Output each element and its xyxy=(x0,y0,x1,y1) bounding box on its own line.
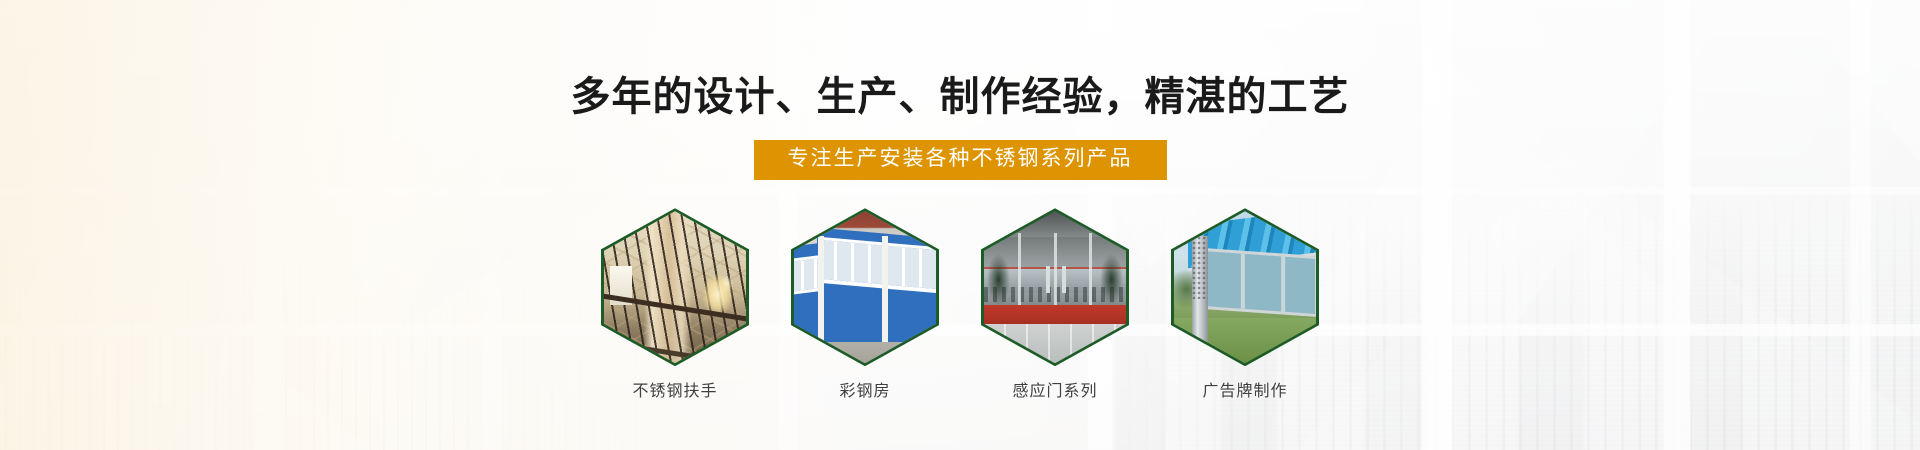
photo-railing-top-bar xyxy=(604,293,746,323)
product-card-label: 不锈钢扶手 xyxy=(632,377,717,401)
product-card-label: 广告牌制作 xyxy=(1202,377,1287,401)
product-card-billboard[interactable]: 广告牌制作 xyxy=(1160,208,1330,401)
hexagon-photo-sensordoor xyxy=(984,211,1126,363)
product-card-handrail[interactable]: 不锈钢扶手 xyxy=(590,208,760,401)
hexagon-frame-guardhouse[interactable] xyxy=(791,208,939,366)
photo-red-carpet xyxy=(984,305,1126,325)
photo-ground xyxy=(794,342,936,363)
hexagon-frame-billboard[interactable] xyxy=(1171,208,1319,366)
hexagon-photo-billboard xyxy=(1174,211,1316,363)
product-card-label: 感应门系列 xyxy=(1012,377,1097,401)
page-title: 多年的设计、生产、制作经验，精湛的工艺 xyxy=(571,74,1350,120)
guardhouse-photo-image xyxy=(794,211,936,363)
banner-content: 多年的设计、生产、制作经验，精湛的工艺 专注生产安装各种不锈钢系列产品 不锈钢扶… xyxy=(0,0,1920,450)
photo-guardhouse-side-windows xyxy=(794,255,820,295)
product-card-list: 不锈钢扶手 xyxy=(590,208,1330,401)
hexagon-photo-handrail xyxy=(604,211,746,363)
product-card-guardhouse[interactable]: 彩钢房 xyxy=(780,208,950,401)
photo-plant-right xyxy=(1100,254,1123,306)
photo-railing-bottom-bar xyxy=(604,339,746,364)
hexagon-frame-sensordoor[interactable] xyxy=(981,208,1129,366)
photo-plant-left xyxy=(987,254,1010,306)
hexagon-frame-handrail[interactable] xyxy=(601,208,749,366)
product-card-sensordoor[interactable]: 感应门系列 xyxy=(970,208,1140,401)
handrail-photo-image xyxy=(604,211,746,363)
photo-door-handle-left xyxy=(1046,266,1050,293)
photo-perforated-panel xyxy=(1192,236,1208,300)
billboard-photo-image xyxy=(1174,211,1316,363)
product-card-label: 彩钢房 xyxy=(839,377,890,401)
promo-banner: 多年的设计、生产、制作经验，精湛的工艺 专注生产安装各种不锈钢系列产品 不锈钢扶… xyxy=(0,0,1920,450)
sensordoor-photo-image xyxy=(984,211,1126,363)
photo-guardhouse-front-windows xyxy=(820,237,936,293)
photo-display-board xyxy=(1202,248,1316,317)
subtitle-badge: 专注生产安装各种不锈钢系列产品 xyxy=(754,140,1167,180)
photo-guardhouse-post-right xyxy=(882,236,888,349)
photo-tiled-floor xyxy=(984,324,1126,364)
photo-door-handle-right xyxy=(1062,266,1066,293)
photo-guardhouse-post-left xyxy=(818,236,824,349)
hexagon-photo-guardhouse xyxy=(794,211,936,363)
